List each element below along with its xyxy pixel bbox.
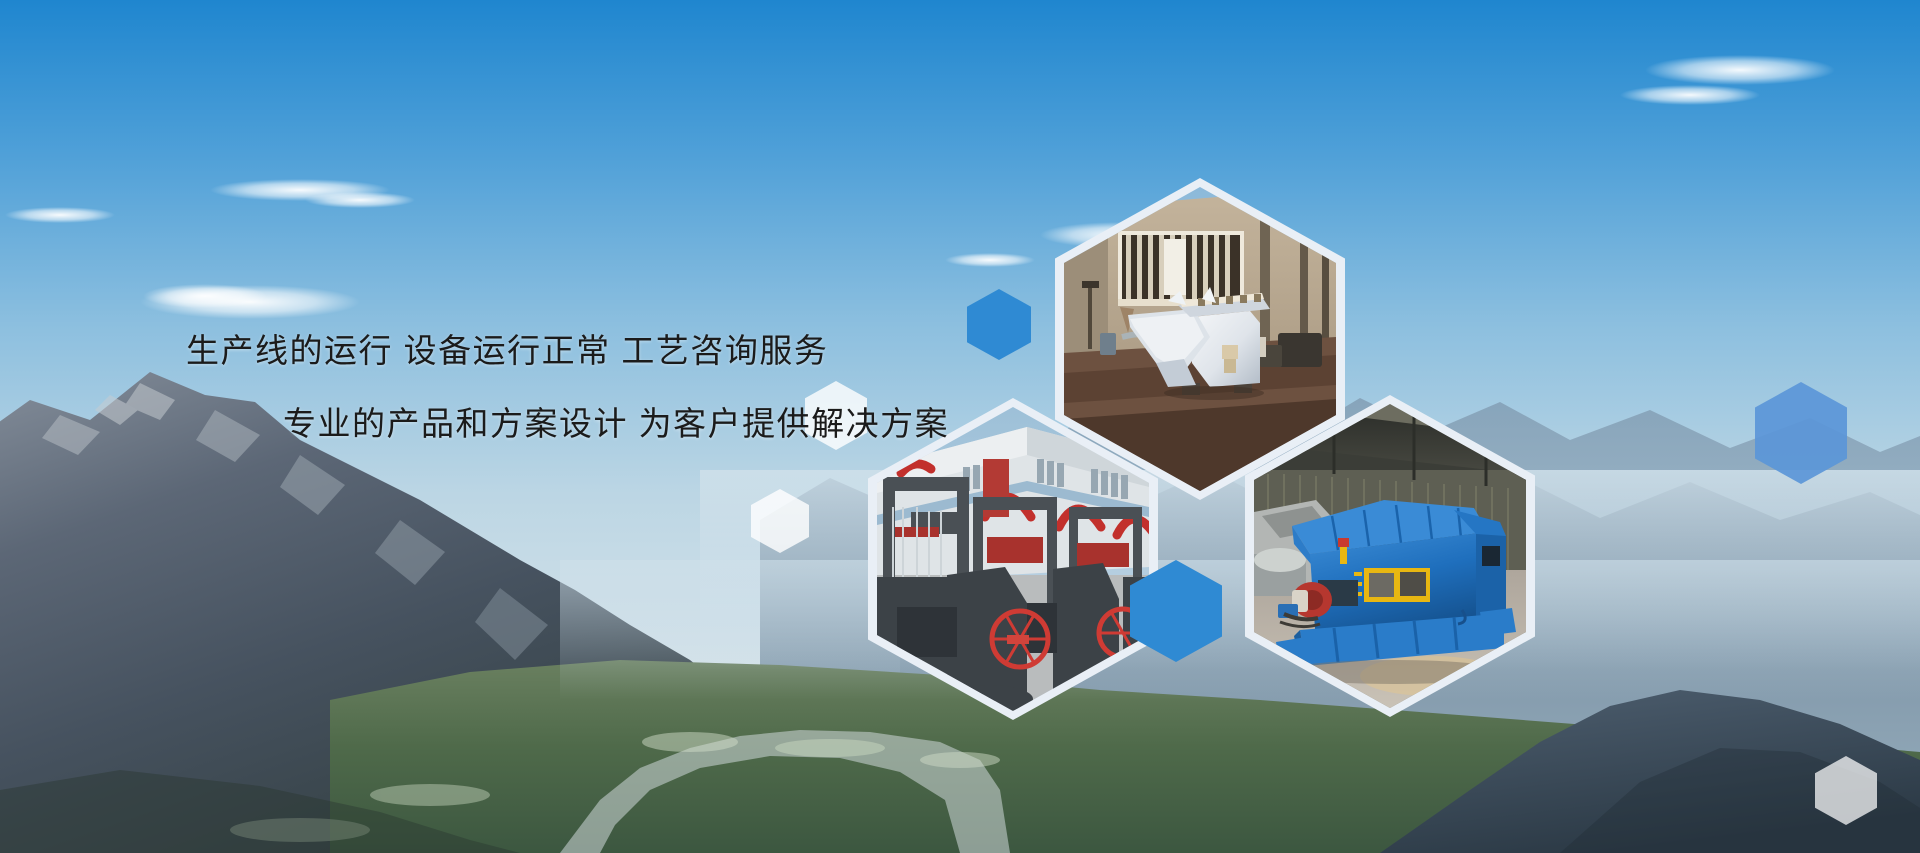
valley-haze-2 [560,560,1920,700]
hero-banner: 生产线的运行 设备运行正常 工艺咨询服务 专业的产品和方案设计 为客户提供解决方… [0,0,1920,853]
background-landscape [0,0,1920,853]
photo-hex-image-grey-machinery [877,407,1149,711]
photo-hex-image-blue-shredder [1254,404,1526,708]
photo-hex-image-casting-machine [1064,187,1336,491]
